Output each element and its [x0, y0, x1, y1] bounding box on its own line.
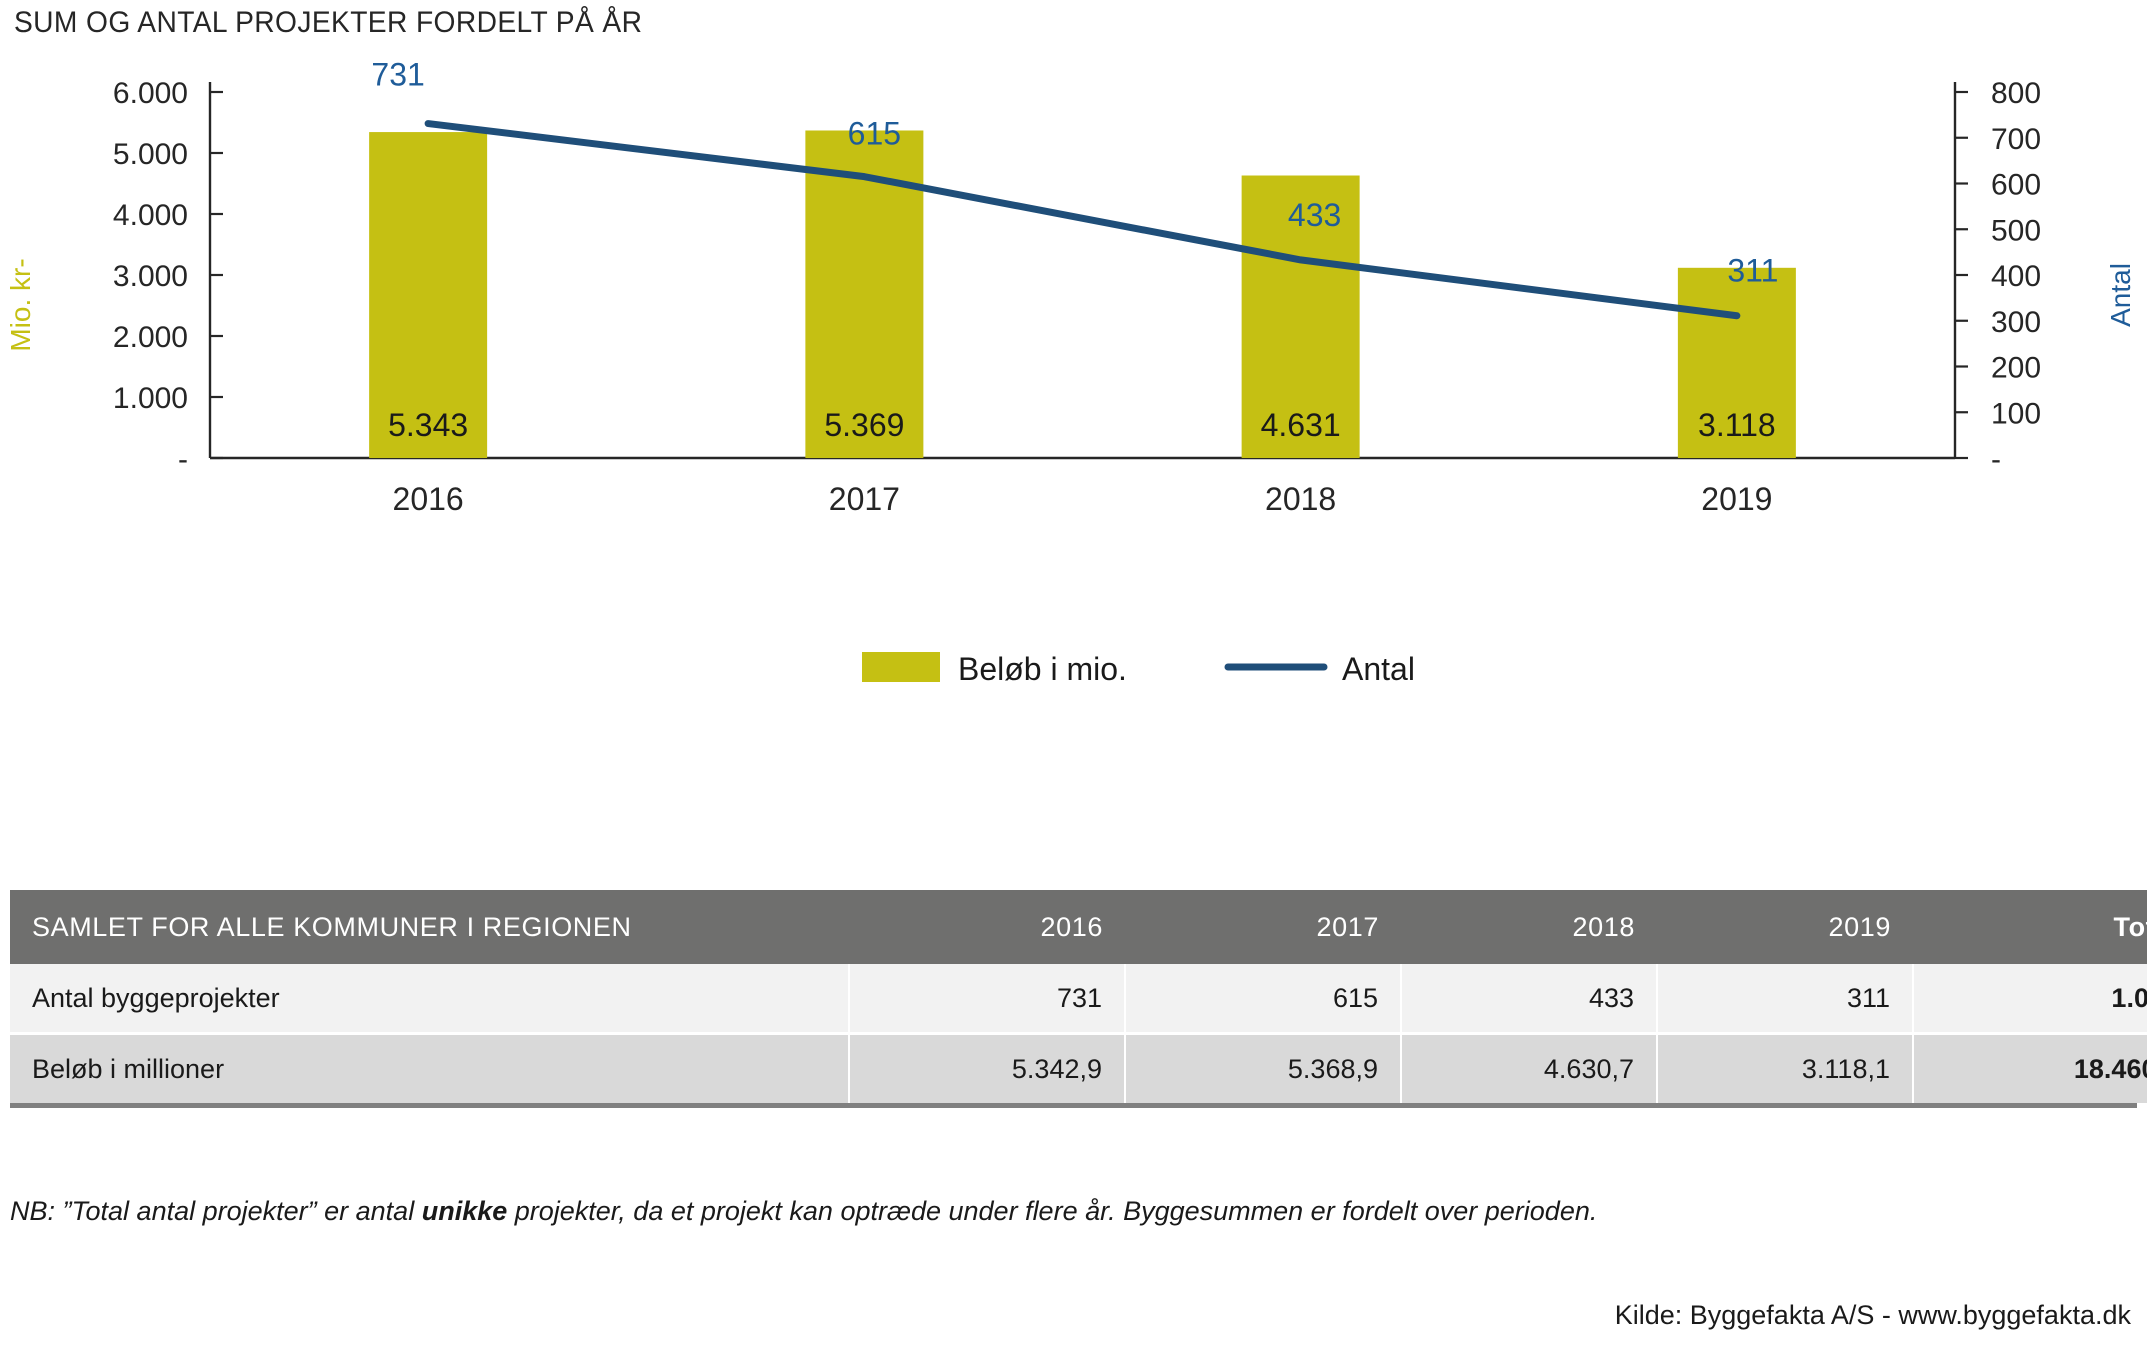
cell-belob-2017: 5.368,9 [1125, 1034, 1401, 1104]
right-axis-tick-label: 600 [1991, 169, 2041, 202]
cell-belob-total: 18.460,6 [1913, 1034, 2147, 1104]
legend-label-belob: Beløb i mio. [958, 651, 1127, 687]
table-header-label: SAMLET FOR ALLE KOMMUNER I REGIONEN [10, 890, 849, 964]
line-value-label-2019: 311 [1727, 253, 1778, 289]
table-header-2019: 2019 [1657, 890, 1913, 964]
cell-antal-2016: 731 [849, 964, 1125, 1034]
cell-belob-2016: 5.342,9 [849, 1034, 1125, 1104]
nb-bold-word: unikke [422, 1196, 508, 1226]
cell-antal-2019: 311 [1657, 964, 1913, 1034]
table-header-2018: 2018 [1401, 890, 1657, 964]
right-axis-tick-label: 700 [1991, 123, 2041, 156]
x-axis-category-2018: 2018 [1265, 481, 1336, 517]
summary-table-container: SAMLET FOR ALLE KOMMUNER I REGIONEN 2016… [10, 890, 2137, 1108]
table-header-2017: 2017 [1125, 890, 1401, 964]
bar-value-label-2018: 4.631 [1261, 407, 1341, 443]
right-axis-tick-label: 100 [1991, 397, 2041, 430]
left-axis-tick-label: 3.000 [113, 260, 188, 293]
table-header-total: Total [1913, 890, 2147, 964]
table-bottom-rule [10, 1103, 2137, 1108]
left-axis-tick-label: 6.000 [113, 77, 188, 110]
summary-table: SAMLET FOR ALLE KOMMUNER I REGIONEN 2016… [10, 890, 2147, 1103]
right-axis-tick-label: 300 [1991, 306, 2041, 339]
antal-line [428, 124, 1737, 316]
table-header-2016: 2016 [849, 890, 1125, 964]
combo-chart: 6.0005.0004.0003.0002.0001.000-800700600… [0, 60, 2147, 780]
cell-belob-2019: 3.118,1 [1657, 1034, 1913, 1104]
table-row: Antal byggeprojekter 731 615 433 311 1.0… [10, 964, 2147, 1034]
cell-antal-2018: 433 [1401, 964, 1657, 1034]
cell-antal-total: 1.063 [1913, 964, 2147, 1034]
page-title: SUM OG ANTAL PROJEKTER FORDELT PÅ ÅR [14, 6, 642, 40]
line-value-label-2018: 433 [1288, 197, 1341, 233]
line-value-label-2016: 731 [371, 60, 424, 93]
left-axis-tick-label: 2.000 [113, 321, 188, 354]
right-axis-title: Antal [2105, 263, 2136, 327]
left-axis-tick-label: 1.000 [113, 382, 188, 415]
nb-prefix: NB: ”Total antal projekter” er antal [10, 1196, 422, 1226]
right-axis-tick-label: 200 [1991, 352, 2041, 385]
right-axis-tick-label: - [1991, 443, 2001, 476]
right-axis-tick-label: 500 [1991, 214, 2041, 247]
left-axis-tick-label: 4.000 [113, 199, 188, 232]
cell-belob-2018: 4.630,7 [1401, 1034, 1657, 1104]
left-axis-tick-label: - [178, 443, 188, 476]
legend-swatch-belob [862, 652, 940, 682]
bar-value-label-2019: 3.118 [1698, 407, 1776, 443]
source-note: Kilde: Byggefakta A/S - www.byggefakta.d… [1615, 1300, 2131, 1331]
nb-footnote: NB: ”Total antal projekter” er antal uni… [10, 1196, 1597, 1227]
table-header: SAMLET FOR ALLE KOMMUNER I REGIONEN 2016… [10, 890, 2147, 964]
table-row: Beløb i millioner 5.342,9 5.368,9 4.630,… [10, 1034, 2147, 1104]
right-axis-tick-label: 800 [1991, 77, 2041, 110]
line-value-label-2017: 615 [848, 116, 901, 152]
bar-value-label-2017: 5.369 [824, 407, 904, 443]
x-axis-category-2017: 2017 [829, 481, 900, 517]
cell-antal-2017: 615 [1125, 964, 1401, 1034]
nb-suffix: projekter, da et projekt kan optræde und… [507, 1196, 1597, 1226]
left-axis-tick-label: 5.000 [113, 138, 188, 171]
table-body: Antal byggeprojekter 731 615 433 311 1.0… [10, 964, 2147, 1103]
bar-value-label-2016: 5.343 [388, 407, 468, 443]
table-header-row: SAMLET FOR ALLE KOMMUNER I REGIONEN 2016… [10, 890, 2147, 964]
row-label-belob-i-millioner: Beløb i millioner [10, 1034, 849, 1104]
x-axis-category-2019: 2019 [1701, 481, 1772, 517]
legend-label-antal: Antal [1342, 651, 1415, 687]
x-axis-category-2016: 2016 [393, 481, 464, 517]
chart-container: 6.0005.0004.0003.0002.0001.000-800700600… [0, 60, 2147, 780]
row-label-antal-byggeprojekter: Antal byggeprojekter [10, 964, 849, 1034]
right-axis-tick-label: 400 [1991, 260, 2041, 293]
left-axis-title: Mio. kr- [5, 258, 36, 351]
